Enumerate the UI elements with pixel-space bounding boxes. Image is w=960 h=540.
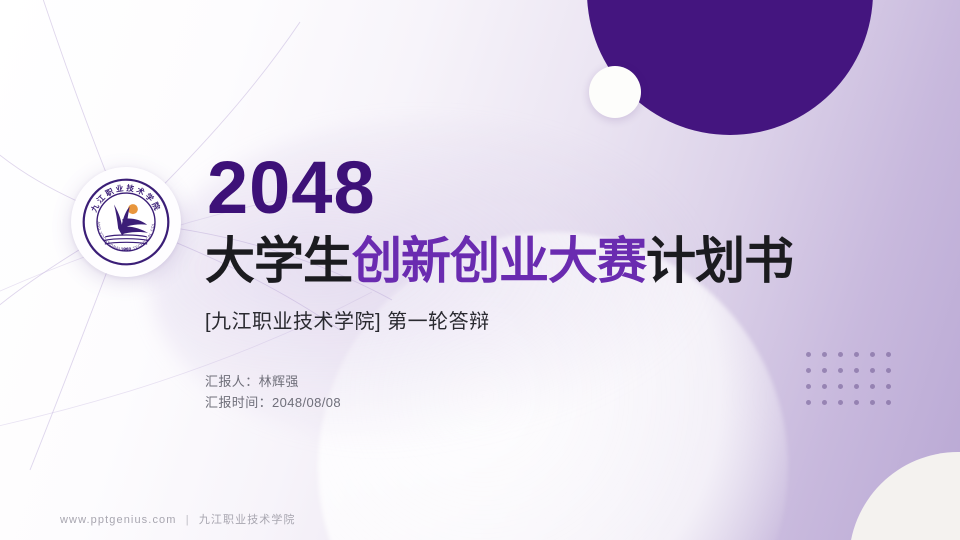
seal-sun-icon bbox=[128, 204, 138, 214]
decor-white-dot-circle bbox=[589, 66, 641, 118]
headline-part-3: 计划书 bbox=[646, 233, 793, 289]
footer-website: www.pptgenius.com bbox=[60, 514, 177, 526]
slide-footer: www.pptgenius.com | 九江职业技术学院 bbox=[60, 511, 296, 527]
headline-part-2: 创新创业大赛 bbox=[352, 233, 646, 289]
footer-organization: 九江职业技术学院 bbox=[199, 514, 296, 526]
slide-year: 2048 bbox=[207, 151, 376, 225]
seal-founded-year: 1960 bbox=[121, 247, 132, 252]
slide-subtitle: [九江职业技术学院] 第一轮答辩 bbox=[205, 305, 490, 334]
college-logo: 九江职业技术学院 JIUJIANG VOCATIONAL AND TECHNIC… bbox=[71, 167, 181, 277]
footer-separator: | bbox=[186, 514, 190, 526]
college-seal-icon: 九江职业技术学院 JIUJIANG VOCATIONAL AND TECHNIC… bbox=[80, 176, 172, 268]
presentation-cover-slide: 九江职业技术学院 JIUJIANG VOCATIONAL AND TECHNIC… bbox=[0, 0, 960, 540]
slide-byline: 汇报人：林辉强 汇报时间：2048/08/08 bbox=[205, 371, 341, 413]
headline-part-1: 大学生 bbox=[205, 233, 352, 289]
date-line: 汇报时间：2048/08/08 bbox=[205, 392, 341, 413]
decor-dot-grid bbox=[806, 352, 902, 416]
presenter-line: 汇报人：林辉强 bbox=[205, 371, 341, 392]
slide-headline: 大学生创新创业大赛计划书 bbox=[205, 236, 793, 286]
